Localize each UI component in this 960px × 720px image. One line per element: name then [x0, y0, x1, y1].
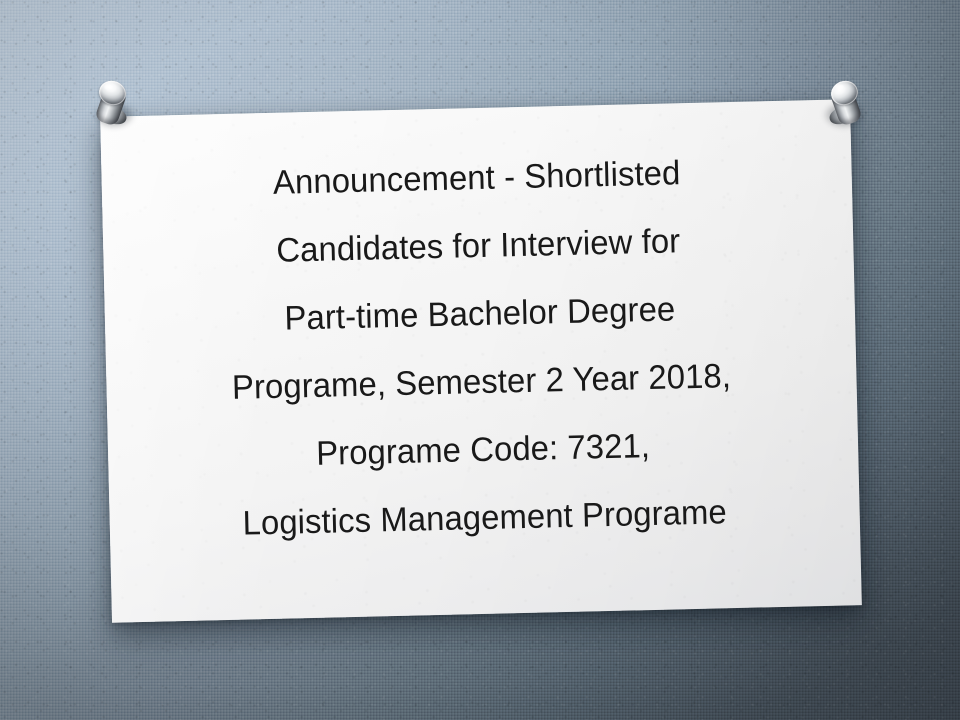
announcement-paper: Announcement - Shortlisted Candidates fo…: [100, 99, 862, 623]
push-pin-right-icon: [818, 72, 876, 134]
announcement-text-block: Announcement - Shortlisted Candidates fo…: [101, 135, 860, 561]
push-pin-left-icon: [82, 72, 140, 134]
push-pin-right-highlight: [835, 84, 844, 90]
slide-canvas: Announcement - Shortlisted Candidates fo…: [0, 0, 960, 720]
push-pin-left-highlight: [104, 84, 113, 90]
